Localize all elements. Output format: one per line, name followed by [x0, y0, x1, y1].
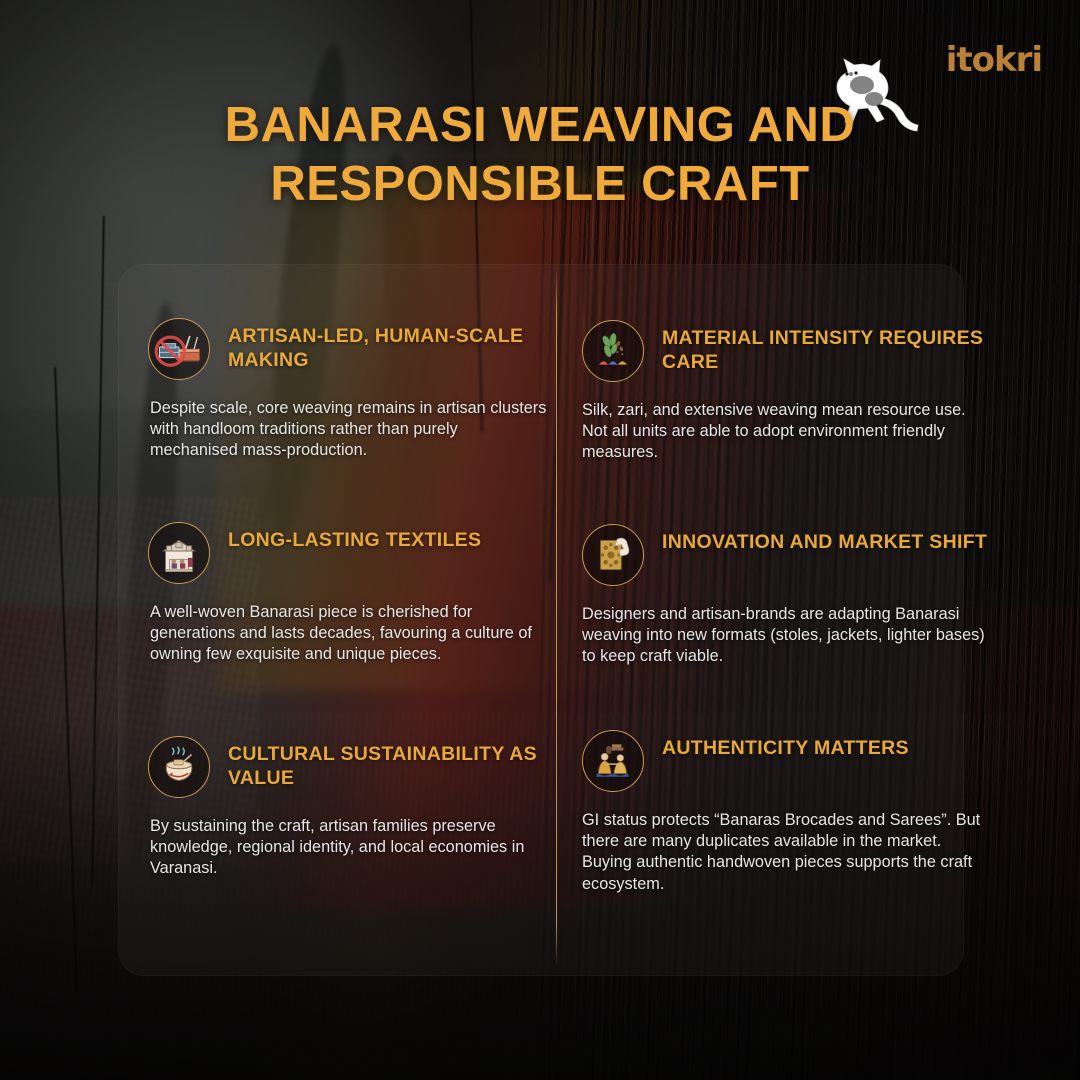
card-header: CULTURAL SUSTAINABILITY AS VALUE	[148, 736, 548, 798]
card-authenticity-matters: AUTHENTICITY MATTERS GI status protects …	[582, 730, 992, 895]
artisan-workshop-building-icon	[148, 522, 210, 584]
card-artisan-led: ARTISAN-LED, HUMAN-SCALE MAKING Despite …	[148, 318, 548, 462]
page-title-line2: RESPONSIBLE CRAFT	[140, 155, 940, 214]
page-title: BANARASI WEAVING AND RESPONSIBLE CRAFT	[0, 96, 1080, 214]
card-title: ARTISAN-LED, HUMAN-SCALE MAKING	[228, 318, 548, 373]
card-header: LONG-LASTING TEXTILES	[148, 522, 548, 584]
page-title-line1: BANARASI WEAVING AND	[140, 96, 940, 155]
card-body: GI status protects “Banaras Brocades and…	[582, 810, 992, 895]
card-title: CULTURAL SUSTAINABILITY AS VALUE	[228, 736, 548, 791]
card-body: A well-woven Banarasi piece is cherished…	[150, 602, 548, 666]
card-body: Despite scale, core weaving remains in a…	[150, 398, 548, 462]
card-title: MATERIAL INTENSITY REQUIRES CARE	[662, 320, 992, 375]
card-header: ARTISAN-LED, HUMAN-SCALE MAKING	[148, 318, 548, 380]
hand-holding-brocade-icon	[582, 524, 644, 586]
card-cultural-sustainability: CULTURAL SUSTAINABILITY AS VALUE By sust…	[148, 736, 548, 880]
no-machine-handloom-icon	[148, 318, 210, 380]
card-title: AUTHENTICITY MATTERS	[662, 730, 909, 760]
card-long-lasting-textiles: LONG-LASTING TEXTILES A well-woven Banar…	[148, 522, 548, 666]
card-header: AUTHENTICITY MATTERS	[582, 730, 992, 792]
brand-logo-text: itokri	[946, 40, 1042, 80]
card-body: By sustaining the craft, artisan familie…	[150, 816, 548, 880]
column-divider	[556, 270, 557, 966]
card-header: MATERIAL INTENSITY REQUIRES CARE	[582, 320, 992, 382]
card-innovation-market-shift: INNOVATION AND MARKET SHIFT Designers an…	[582, 524, 992, 668]
leaves-natural-dye-icon	[582, 320, 644, 382]
card-title: INNOVATION AND MARKET SHIFT	[662, 524, 987, 554]
dye-pot-steam-icon	[148, 736, 210, 798]
card-title: LONG-LASTING TEXTILES	[228, 522, 481, 552]
two-artisans-seated-icon	[582, 730, 644, 792]
card-material-intensity: MATERIAL INTENSITY REQUIRES CARE Silk, z…	[582, 320, 992, 464]
card-body: Designers and artisan-brands are adaptin…	[582, 604, 992, 668]
card-header: INNOVATION AND MARKET SHIFT	[582, 524, 992, 586]
card-body: Silk, zari, and extensive weaving mean r…	[582, 400, 992, 464]
